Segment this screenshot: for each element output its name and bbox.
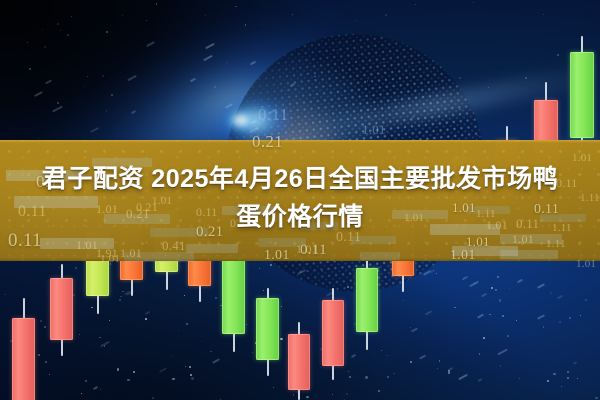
streak-particle [425,310,432,315]
sparkle-particle [102,75,104,77]
streak-particle [517,278,523,283]
streak-particle [477,314,484,319]
sparkle-particle [577,378,578,379]
sparkle-particle [410,327,411,328]
background-number: 1.01 [486,218,508,233]
sparkle-particle [585,299,587,301]
background-number: 1.11 [580,192,600,204]
sparkle-particle [5,294,7,296]
background-number: 1.01 [576,258,596,270]
sparkle-particle [210,351,211,352]
sparkle-particle [491,287,493,289]
sparkle-particle [381,350,382,351]
sparkle-particle [44,326,45,327]
sparkle-particle [119,299,122,302]
sparkle-particle [252,352,253,353]
sparkle-particle [387,355,388,356]
sparkle-particle [270,264,272,266]
sparkle-particle [559,321,561,323]
sparkle-particle [557,54,559,56]
sparkle-particle [410,361,412,363]
background-number: 1.01 [450,248,476,264]
sparkle-particle [120,296,122,298]
sparkle-particle [500,365,502,367]
candlestick [256,288,279,376]
sparkle-particle [39,138,40,139]
sparkle-particle [507,335,509,337]
sparkle-particle [172,378,175,381]
candle-body [288,334,310,390]
background-number: 0.11 [36,172,66,192]
sparkle-particle [40,320,42,322]
candle-body [322,300,344,366]
background-number: 0.21 [196,224,223,241]
sparkle-particle [189,366,191,368]
data-bar [222,206,276,215]
sparkle-particle [378,390,380,392]
sparkle-particle [473,2,474,3]
sparkle-particle [79,334,80,335]
streak-particle [557,295,563,300]
sparkle-particle [567,377,569,379]
sparkle-particle [85,380,87,382]
data-bar [92,158,152,167]
sparkle-particle [439,360,440,361]
sparkle-particle [448,372,450,374]
sparkle-particle [550,292,552,294]
sparkle-particle [595,397,597,399]
background-number: 1.01 [264,248,290,264]
streak-particle [481,293,488,298]
sparkle-particle [509,288,510,289]
sparkle-particle [437,368,438,369]
sparkle-particle [454,307,455,308]
sparkle-particle [273,387,274,388]
sparkle-particle [477,135,478,136]
sparkle-particle [332,394,333,395]
streak-particle [447,367,453,371]
sparkle-particle [349,376,351,378]
background-number: 0.11 [196,205,218,220]
sparkle-particle [567,371,569,373]
sparkle-particle [525,77,527,79]
background-number: 1.01 [572,152,592,164]
candlestick [12,298,35,400]
data-bar [360,252,400,260]
sparkle-particle [42,29,43,30]
sparkle-particle [346,393,348,395]
background-number: 0.21 [136,200,158,215]
background-number: 0.11 [18,203,47,221]
sparkle-particle [152,397,154,399]
sparkle-particle [67,34,69,36]
sparkle-particle [226,62,227,63]
background-number: 0.41 [162,238,186,254]
sparkle-particle [219,95,220,96]
sparkle-particle [495,289,497,291]
sparkle-particle [355,20,357,22]
sparkle-particle [57,23,59,25]
sparkle-particle [178,330,179,331]
sparkle-particle [145,318,147,320]
sparkle-particle [322,271,323,272]
sparkle-particle [214,86,216,88]
sparkle-particle [250,97,251,98]
candle-body [256,298,279,360]
sparkle-particle [393,373,394,374]
background-number: 1.01 [96,202,118,217]
sparkle-particle [488,87,489,88]
sparkle-particle [415,4,416,5]
sparkle-particle [75,267,77,269]
streak-particle [572,361,577,365]
sparkle-particle [81,393,82,394]
background-number: 1.01 [296,242,318,257]
sparkle-particle [184,295,185,296]
background-number: 1.01 [512,232,534,247]
sparkle-particle [106,31,107,32]
sparkle-particle [245,24,246,25]
sparkle-particle [543,326,545,328]
streak-particle [497,349,508,356]
background-number: 1.11 [546,238,566,250]
background-number: 0.11 [230,216,252,231]
sparkle-particle [516,320,518,322]
candlestick [356,258,378,350]
background-number: 1.91 [96,246,118,261]
sparkle-particle [483,337,485,339]
streak-particle [159,368,167,374]
sparkle-particle [367,80,368,81]
background-number: 0.21 [252,132,283,152]
sparkle-particle [385,14,387,16]
sparkle-particle [519,378,520,379]
background-number: 0.11 [8,230,42,252]
sparkle-particle [459,77,461,79]
background-number: 1.01 [76,238,98,253]
sparkle-particle [348,371,349,372]
sparkle-particle [569,317,571,319]
candlestick [322,288,344,380]
streak-particle [212,358,220,364]
candle-body [356,268,378,332]
candlestick [50,264,73,356]
sparkle-particle [191,377,193,379]
banner-image: 0.110.211.010.111.011.010.110.111.011.01… [0,0,600,400]
streak-particle [537,283,545,289]
sparkle-particle [109,320,111,322]
streak-particle [458,373,468,379]
sparkle-particle [99,337,100,338]
streak-particle [411,328,418,333]
data-bar [300,222,338,230]
sparkle-particle [246,324,247,325]
sparkle-particle [45,361,47,363]
sparkle-particle [292,14,293,15]
candle-body [222,258,245,334]
streak-particle [478,379,483,383]
background-number: 0.11 [258,105,288,125]
streak-particle [419,354,426,359]
sparkle-particle [580,315,581,316]
sparkle-particle [281,306,282,307]
sparkle-particle [543,14,544,15]
candle-body [12,318,35,400]
sparkle-particle [497,276,498,277]
candlestick [288,322,310,400]
background-number: 1.01 [452,200,476,216]
sparkle-particle [122,15,123,16]
streak-particle [93,386,98,390]
background-number: 1.11 [552,222,572,234]
data-bar [500,250,558,259]
sparkle-particle [365,376,367,378]
sparkle-particle [489,314,490,315]
sparkle-particle [117,368,120,371]
sparkle-particle [49,374,50,375]
sparkle-particle [186,323,188,325]
sparkle-particle [172,355,173,356]
sparkle-particle [201,341,202,342]
streak-particle [145,311,150,315]
sparkle-particle [502,315,504,317]
sparkle-particle [57,102,59,104]
streak-particle [537,314,545,320]
sparkle-particle [185,366,186,367]
streak-particle [351,354,356,358]
candle-body [570,52,594,138]
background-number: 0.11 [556,176,578,191]
sparkle-particle [280,338,282,340]
sparkle-particle [44,46,46,48]
background-number: 1.01 [404,212,424,224]
background-number: 1.01 [362,122,386,138]
sparkle-particle [479,353,481,355]
sparkle-particle [553,373,555,375]
sparkle-particle [38,354,40,356]
sparkle-particle [403,300,405,302]
sparkle-particle [190,374,192,376]
sparkle-particle [547,380,549,382]
sparkle-particle [133,371,135,373]
sparkle-particle [561,386,562,387]
sparkle-particle [387,376,389,378]
background-number: 0.11 [516,216,539,232]
sparkle-particle [499,299,502,302]
sparkle-particle [156,3,157,4]
sparkle-particle [127,379,129,381]
background-number: 1.01 [120,246,142,261]
candle-body [50,278,73,340]
sparkle-particle [215,297,217,299]
gold-band-top-edge [0,140,600,143]
sparkle-particle [84,86,85,87]
background-number: 0.11 [336,230,361,246]
sparkle-particle [29,68,31,70]
sparkle-particle [383,62,384,63]
sparkle-particle [100,389,101,390]
